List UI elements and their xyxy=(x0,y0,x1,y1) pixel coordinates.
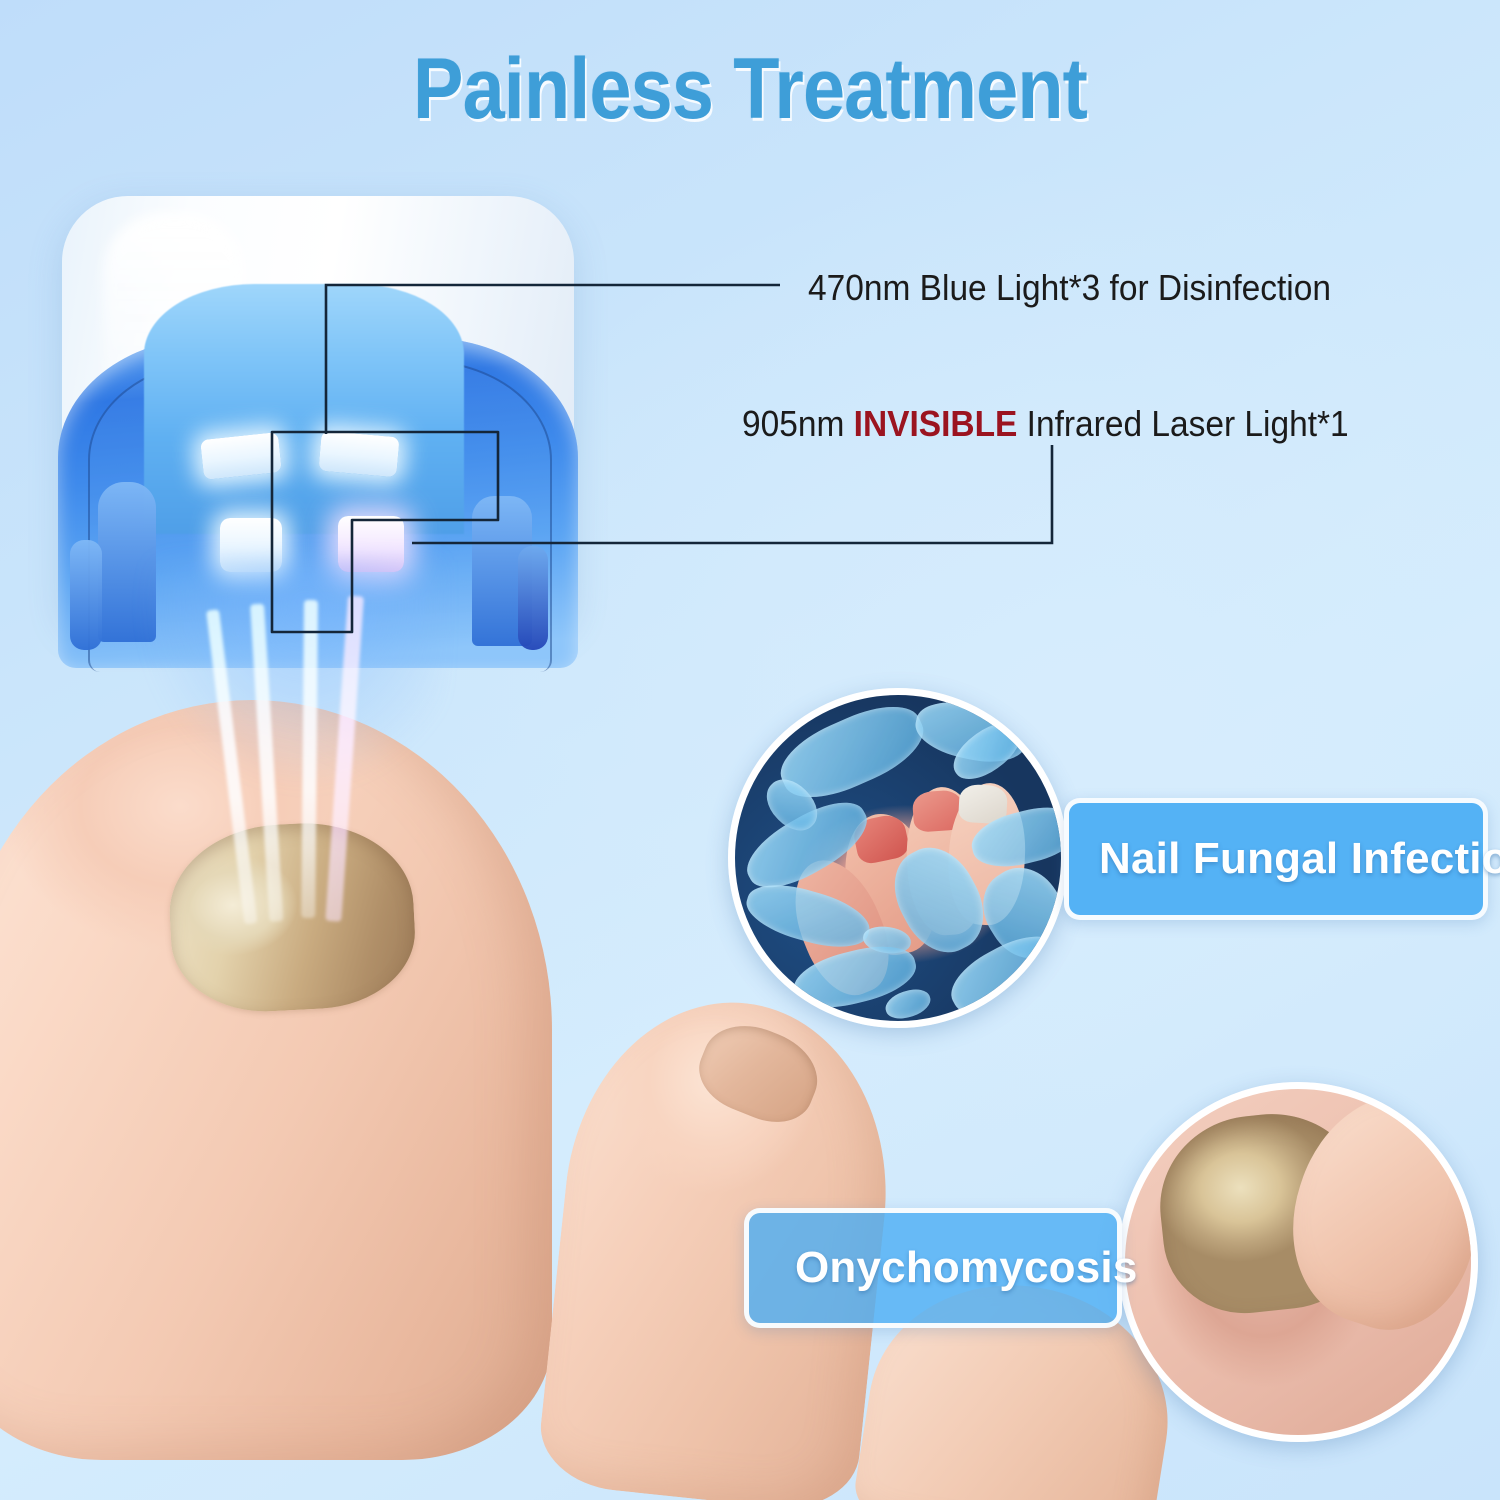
callout-infrared-highlight: INVISIBLE xyxy=(854,403,1018,444)
banner-onychomycosis-label: Onychomycosis xyxy=(795,1243,1138,1293)
callout-leader-lines xyxy=(0,0,1500,700)
callout-blue-light-label: 470nm Blue Light*3 for Disinfection xyxy=(808,268,1331,308)
banner-nail-fungal-infection-label: Nail Fungal Infection xyxy=(1099,834,1500,884)
banner-nail-fungal-infection: Nail Fungal Infection xyxy=(1064,798,1488,920)
led-group-outline xyxy=(272,432,498,632)
infected-toenail-photo xyxy=(1118,1082,1478,1442)
callout-infrared-laser-label: 905nm INVISIBLE Infrared Laser Light*1 xyxy=(742,404,1349,444)
callout-infrared-prefix: 905nm xyxy=(742,403,854,444)
callout-infrared-suffix: Infrared Laser Light*1 xyxy=(1017,403,1348,444)
banner-onychomycosis: Onychomycosis xyxy=(744,1208,1122,1328)
bacteria-foot-photo xyxy=(728,688,1068,1028)
product-feature-infographic: Painless Treatment 470nm Blue Light*3 fo… xyxy=(0,0,1500,1500)
callout-blue-light-text: 470nm Blue Light*3 for Disinfection xyxy=(808,267,1331,308)
leader-line-blue-light xyxy=(326,285,780,434)
leader-line-infrared-laser xyxy=(412,445,1052,543)
